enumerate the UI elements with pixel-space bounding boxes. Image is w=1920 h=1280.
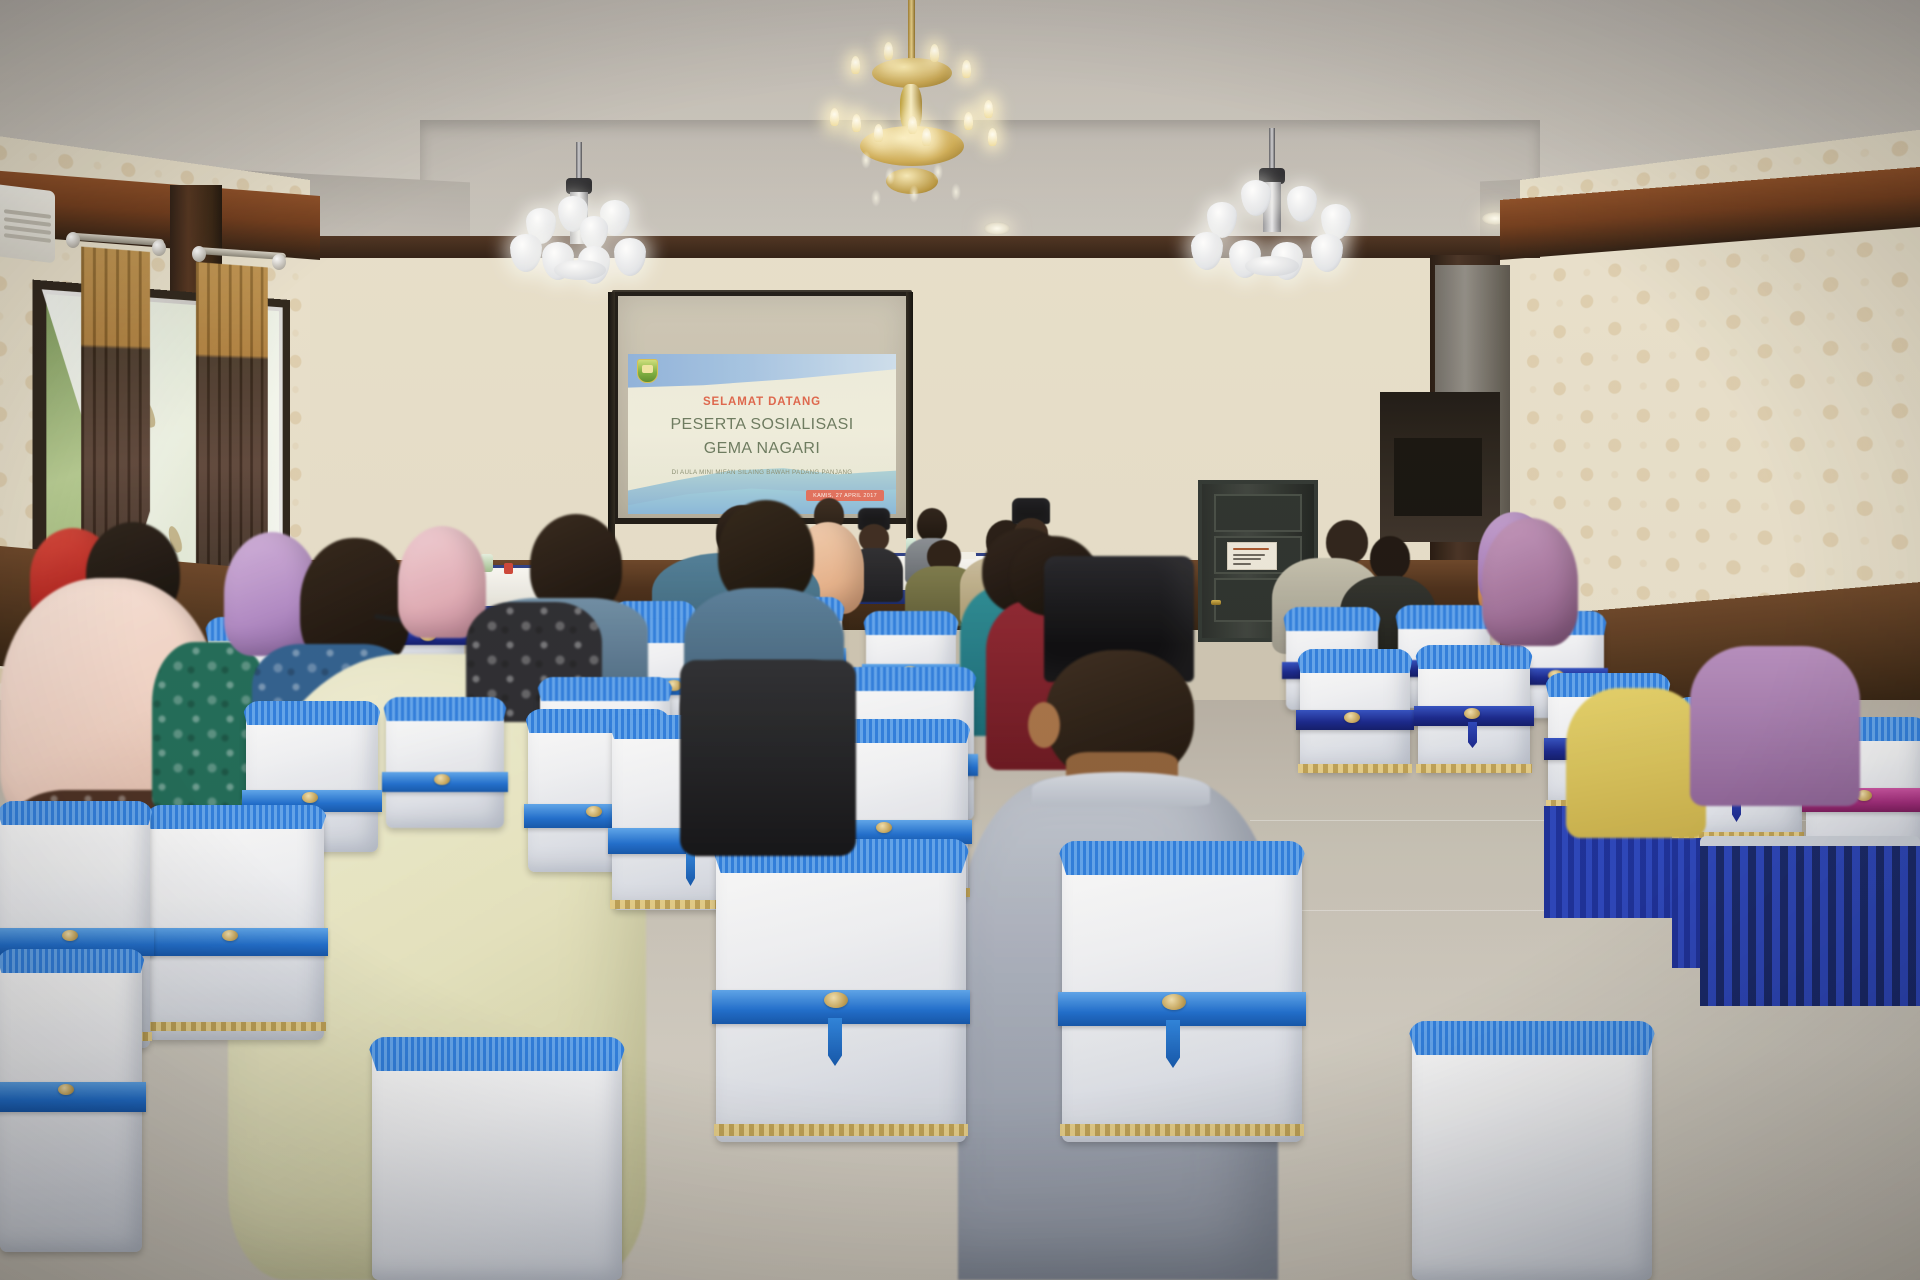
table-cup xyxy=(504,563,513,574)
chandelier-bottom-bowl xyxy=(554,260,606,280)
chandelier-bulb xyxy=(884,42,893,60)
chair xyxy=(372,1040,622,1280)
chandelier-bulb xyxy=(908,116,917,134)
chandelier-shade xyxy=(510,234,542,272)
chandelier-bulb xyxy=(964,112,973,130)
chair-rosette xyxy=(222,930,238,941)
chair-piping xyxy=(841,667,977,691)
regency-crest-logo xyxy=(637,359,658,383)
projection-screen-frame: SELAMAT DATANG PESERTA SOSIALISASI GEMA … xyxy=(612,292,912,524)
chandelier-bottom-bowl xyxy=(1245,256,1299,276)
chair-piping xyxy=(1059,841,1305,875)
chair-piping xyxy=(1297,649,1413,673)
curtain-rod-finial xyxy=(192,246,206,262)
slide-wave-top xyxy=(628,354,896,394)
ear xyxy=(1028,702,1060,748)
slide-welcome-text: SELAMAT DATANG xyxy=(628,396,896,408)
person-mauve-hijab-right xyxy=(1482,518,1578,646)
chandelier-bulb xyxy=(874,124,883,142)
person-purple-shirt-right-edge xyxy=(1690,646,1860,806)
chandelier-shade xyxy=(1311,234,1343,272)
chair-rosette xyxy=(62,930,78,941)
chair-rosette xyxy=(876,822,892,833)
chandelier-bulb xyxy=(830,108,839,126)
chair-lace-trim xyxy=(714,1124,968,1136)
head xyxy=(1370,536,1410,580)
chair-piping xyxy=(1409,1021,1655,1055)
curtain-rod-finial xyxy=(66,232,80,248)
chair xyxy=(148,808,324,1040)
chair-piping xyxy=(0,949,145,973)
chair xyxy=(386,700,504,828)
chair-back xyxy=(1412,1024,1652,1280)
chandelier-bulb xyxy=(962,60,971,78)
white-tulip-chandelier-left xyxy=(500,142,660,282)
chair xyxy=(1418,648,1530,772)
photo-scene: SELAMAT DATANG PESERTA SOSIALISASI GEMA … xyxy=(0,0,1920,1280)
chair-rosette xyxy=(1464,708,1480,719)
chair-lace-trim xyxy=(146,1022,326,1031)
chandelier-crystal-drops xyxy=(856,150,968,216)
wall-air-conditioner xyxy=(0,185,55,264)
slide-title-line-2: GEMA NAGARI xyxy=(628,440,896,458)
chair xyxy=(0,952,142,1252)
chair-piping xyxy=(1283,607,1381,631)
chair-piping xyxy=(0,801,153,825)
chair-lace-trim xyxy=(1298,764,1412,773)
chair-back xyxy=(148,808,324,1040)
chandelier-bulb xyxy=(988,128,997,146)
shirt-collar xyxy=(1032,772,1210,806)
chandelier-shade xyxy=(1287,186,1317,222)
chair-lace-trim xyxy=(1416,764,1532,773)
chair-piping xyxy=(243,701,381,725)
chair-rosette xyxy=(1344,712,1360,723)
chandelier-bulb xyxy=(851,56,860,74)
chandelier-bulb xyxy=(852,114,861,132)
gold-crystal-chandelier xyxy=(812,0,1012,225)
chair-piping xyxy=(145,805,327,829)
curtain-rod-finial xyxy=(152,240,166,256)
chair xyxy=(716,842,966,1142)
chair-piping xyxy=(863,611,959,635)
chandelier-bulb xyxy=(984,100,993,118)
mauve-hijab xyxy=(1482,518,1578,646)
right-round-table xyxy=(1700,836,1920,1006)
chair-rosette xyxy=(586,806,602,817)
chair-rosette xyxy=(434,774,450,785)
chair-rosette xyxy=(302,792,318,803)
chandelier-bulb xyxy=(930,44,939,62)
chair-rosette xyxy=(824,992,848,1008)
chair-piping xyxy=(1395,605,1493,629)
chandelier-stem xyxy=(1269,128,1275,172)
chair-piping xyxy=(383,697,507,721)
head xyxy=(917,508,947,542)
chandelier-bulb xyxy=(922,128,931,146)
projected-slide: SELAMAT DATANG PESERTA SOSIALISASI GEMA … xyxy=(628,354,896,514)
chair xyxy=(1300,652,1410,772)
chair-lace-trim xyxy=(1060,1124,1304,1136)
chair xyxy=(1412,1024,1652,1280)
chandelier-shade xyxy=(614,238,646,276)
curtain-rod-finial xyxy=(272,254,286,270)
person-yellow-batik-right xyxy=(1566,688,1706,838)
chair xyxy=(1062,844,1302,1142)
slide-title-line-1: PESERTA SOSIALISASI xyxy=(628,416,896,434)
chandelier-stem xyxy=(576,142,582,182)
chandelier-shade xyxy=(580,216,608,250)
chair-piping xyxy=(369,1037,625,1071)
chair-rosette xyxy=(58,1084,74,1095)
chair-rosette xyxy=(1162,994,1186,1010)
slide-subtitle: DI AULA MINI MIFAN SILAING BAWAH PADANG … xyxy=(628,469,896,476)
niche-inner xyxy=(1394,438,1482,516)
chair-piping xyxy=(537,677,673,701)
dark-chair-back xyxy=(680,660,856,856)
chair-piping xyxy=(1415,645,1533,669)
white-tulip-chandelier-right xyxy=(1185,128,1360,283)
chandelier-shade xyxy=(1191,232,1223,270)
chair-back xyxy=(372,1040,622,1280)
projection-screen-surface: SELAMAT DATANG PESERTA SOSIALISASI GEMA … xyxy=(618,296,906,518)
